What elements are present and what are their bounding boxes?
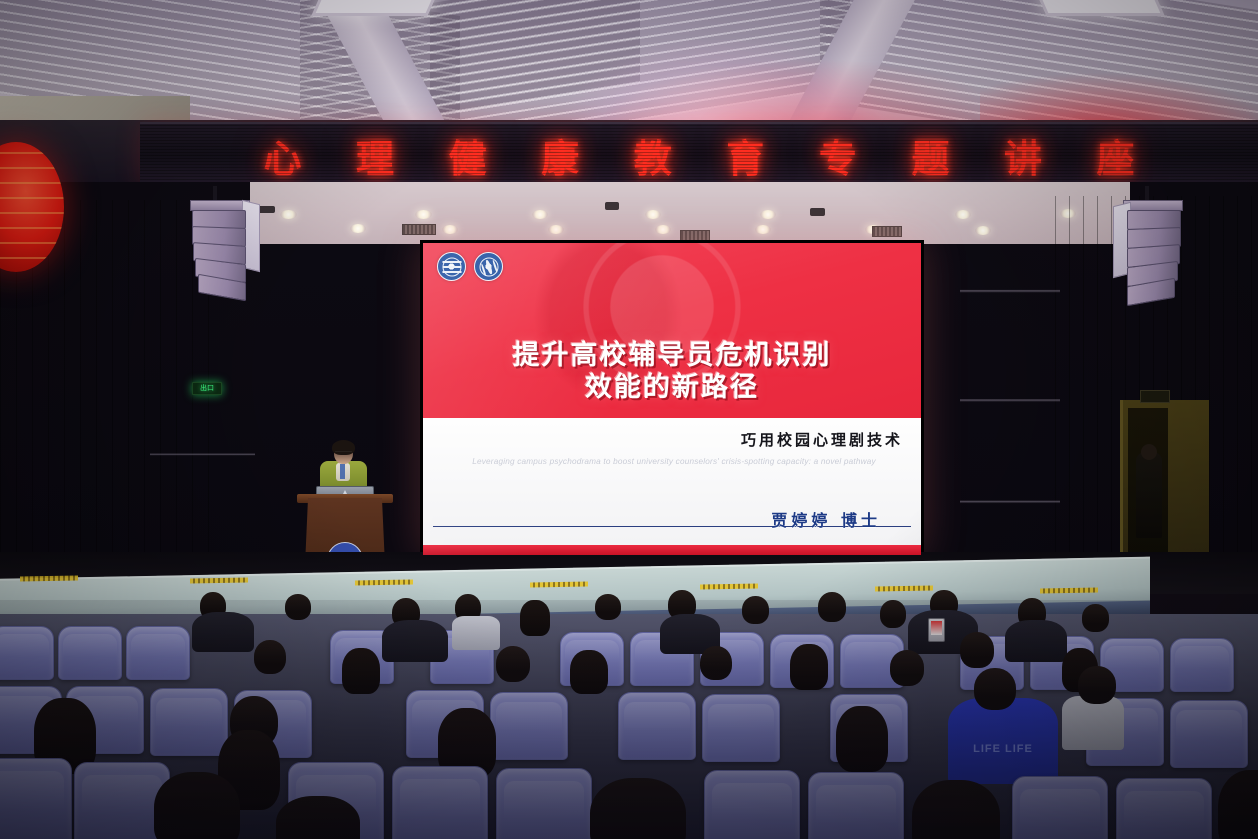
downlight <box>655 225 671 234</box>
slide-title-line-1: 提升高校辅导员危机识别 <box>423 340 921 372</box>
auditorium-seat[interactable] <box>1170 700 1248 768</box>
auditorium-seat[interactable] <box>126 626 190 680</box>
led-banner-text: 心 理 健 康 教 育 专 题 讲 座 <box>241 128 1156 183</box>
downlight <box>350 224 366 233</box>
downlight <box>442 225 458 234</box>
stage-spotlight-fixture <box>810 208 825 216</box>
audience-head <box>590 778 686 839</box>
audience-shoulders <box>382 620 448 662</box>
auditorium-seat[interactable] <box>58 626 122 680</box>
downlight <box>760 210 776 219</box>
auditorium-seat[interactable] <box>0 626 54 680</box>
audience-head <box>912 780 1000 839</box>
auditorium-seat[interactable] <box>1170 638 1234 692</box>
audience-shoulders <box>192 612 254 652</box>
ceiling-air-vent <box>402 224 436 235</box>
auditorium-seat[interactable] <box>496 768 592 839</box>
audience-head <box>276 796 360 839</box>
exit-sign: 出口 <box>192 382 222 395</box>
audience-head <box>496 646 530 682</box>
ceiling-red-glow <box>600 60 1020 128</box>
presenter-glasses <box>335 451 352 456</box>
slide-subtitle-chinese: 巧用校园心理剧技术 <box>741 429 903 450</box>
audience-shoulders <box>1062 696 1124 750</box>
downlight <box>755 225 771 234</box>
audience-head <box>154 772 240 839</box>
led-banner: 心 理 健 康 教 育 专 题 讲 座 <box>140 122 1258 189</box>
university-seal-logo-2-icon <box>474 252 503 281</box>
hoodie-text: LIFE LIFE <box>973 743 1033 755</box>
line-array-speaker-right <box>1105 200 1185 312</box>
auditorium-seat[interactable] <box>704 770 800 839</box>
standing-person-head <box>1141 444 1157 460</box>
auditorium-lecture-photo: 心 理 健 康 教 育 专 题 讲 座 出口 <box>0 0 1258 839</box>
audience-head <box>1078 666 1116 704</box>
ceiling-skylight <box>311 0 440 16</box>
audience-shoulders <box>1005 620 1067 662</box>
audience-head <box>595 594 621 620</box>
ceiling-skylight <box>1033 0 1164 16</box>
audience-head <box>1082 604 1109 632</box>
slide-footer-strip <box>423 545 921 555</box>
stage-spotlight-fixture <box>258 206 275 213</box>
auditorium-seat[interactable] <box>490 692 568 760</box>
ceiling-air-vent <box>872 226 902 237</box>
audience-head <box>1218 770 1258 839</box>
door-sign-plate <box>1140 390 1170 403</box>
audience-head <box>285 594 311 620</box>
slide-subtitle-english: Leveraging campus psychodrama to boost u… <box>437 457 911 466</box>
audience-head <box>742 596 769 624</box>
auditorium-seat[interactable] <box>150 688 228 756</box>
audience-hoodie-person: LIFE LIFE <box>948 698 1058 784</box>
downlight <box>415 210 432 219</box>
audience-head <box>836 706 888 772</box>
audience-head <box>520 600 550 636</box>
auditorium-seat[interactable] <box>392 766 488 839</box>
line-array-speaker-left <box>190 200 260 305</box>
audience-head <box>570 650 608 694</box>
slide-title-line-2: 效能的新路径 <box>423 372 921 404</box>
audience-head <box>700 646 732 680</box>
audience-head <box>960 632 994 668</box>
downlight <box>645 210 661 219</box>
audience-section: LIFE LIFE <box>0 590 1258 839</box>
auditorium-seat[interactable] <box>1116 778 1212 839</box>
audience-head <box>254 640 286 674</box>
auditorium-seat[interactable] <box>0 758 72 839</box>
auditorium-seat[interactable] <box>1012 776 1108 839</box>
standing-person-right <box>1136 452 1162 538</box>
university-seal-logo-1-icon <box>437 252 466 281</box>
marble-column-right <box>960 196 1060 586</box>
audience-head <box>818 592 846 622</box>
audience-head <box>342 648 380 694</box>
presentation-slide: 提升高校辅导员危机识别 效能的新路径 巧用校园心理剧技术 Leveraging … <box>423 243 921 555</box>
audience-phone[interactable] <box>928 618 945 642</box>
slide-author-name: 贾婷婷 博士 <box>771 507 881 531</box>
marble-column-left <box>150 340 255 586</box>
downlight <box>280 210 297 219</box>
audience-head <box>880 600 906 628</box>
audience-head <box>790 644 828 690</box>
audience-head <box>890 650 924 686</box>
presenter-lanyard <box>340 464 345 479</box>
auditorium-seat[interactable] <box>808 772 904 839</box>
stage-spotlight-fixture <box>605 202 619 210</box>
auditorium-seat[interactable] <box>702 694 780 762</box>
projection-screen: 提升高校辅导员危机识别 效能的新路径 巧用校园心理剧技术 Leveraging … <box>420 240 924 558</box>
slide-title: 提升高校辅导员危机识别 效能的新路径 <box>423 340 921 404</box>
downlight <box>532 210 548 219</box>
auditorium-seat[interactable] <box>618 692 696 760</box>
exit-sign-text: 出口 <box>200 385 214 392</box>
audience-shoulders <box>452 616 500 650</box>
audience-head <box>974 668 1016 710</box>
downlight <box>548 225 564 234</box>
slide-logo-group <box>437 252 503 281</box>
